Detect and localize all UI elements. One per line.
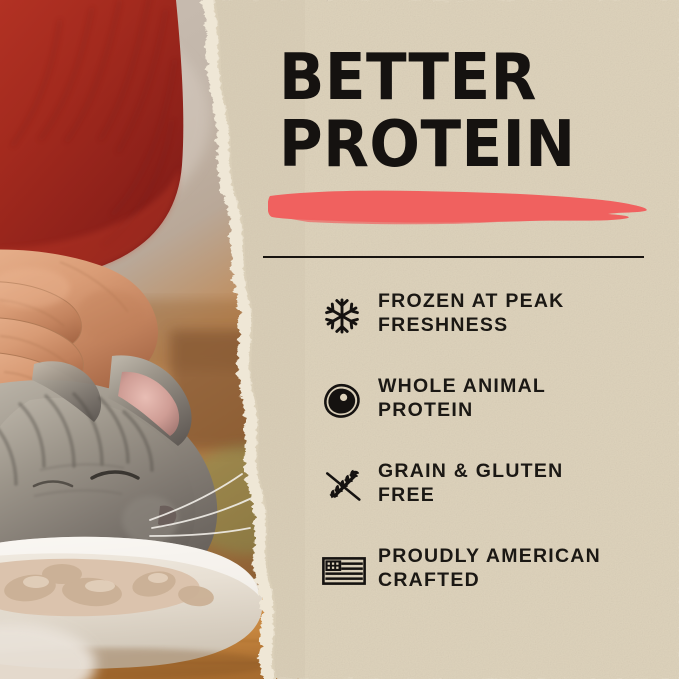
coral-brush-stroke xyxy=(268,186,653,226)
headline-line-1: BETTER xyxy=(279,48,642,109)
feature-label: WHOLE ANIMAL PROTEIN xyxy=(378,373,672,422)
feature-label: FROZEN AT PEAK FRESHNESS xyxy=(378,288,672,337)
wheat-crossed-icon xyxy=(322,458,378,512)
text-content-layer: BETTER PROTEIN xyxy=(0,0,679,679)
feature-item-protein: WHOLE ANIMAL PROTEIN xyxy=(322,373,672,458)
feature-label: PROUDLY AMERICAN CRAFTED xyxy=(378,543,672,592)
feature-list: FROZEN AT PEAK FRESHNESS WHOLE ANIMAL PR… xyxy=(322,288,672,628)
snowflake-icon xyxy=(322,288,378,342)
feature-label: GRAIN & GLUTEN FREE xyxy=(378,458,672,507)
steak-icon xyxy=(322,373,378,427)
feature-item-frozen: FROZEN AT PEAK FRESHNESS xyxy=(322,288,672,373)
feature-item-american-crafted: PROUDLY AMERICAN CRAFTED xyxy=(322,543,672,628)
feature-item-grain-free: GRAIN & GLUTEN FREE xyxy=(322,458,672,543)
page-title: BETTER PROTEIN xyxy=(279,48,669,177)
divider-rule xyxy=(263,256,644,258)
american-flag-icon xyxy=(322,543,378,597)
product-feature-ad: BETTER PROTEIN xyxy=(0,0,679,679)
headline-line-2: PROTEIN xyxy=(279,115,642,176)
